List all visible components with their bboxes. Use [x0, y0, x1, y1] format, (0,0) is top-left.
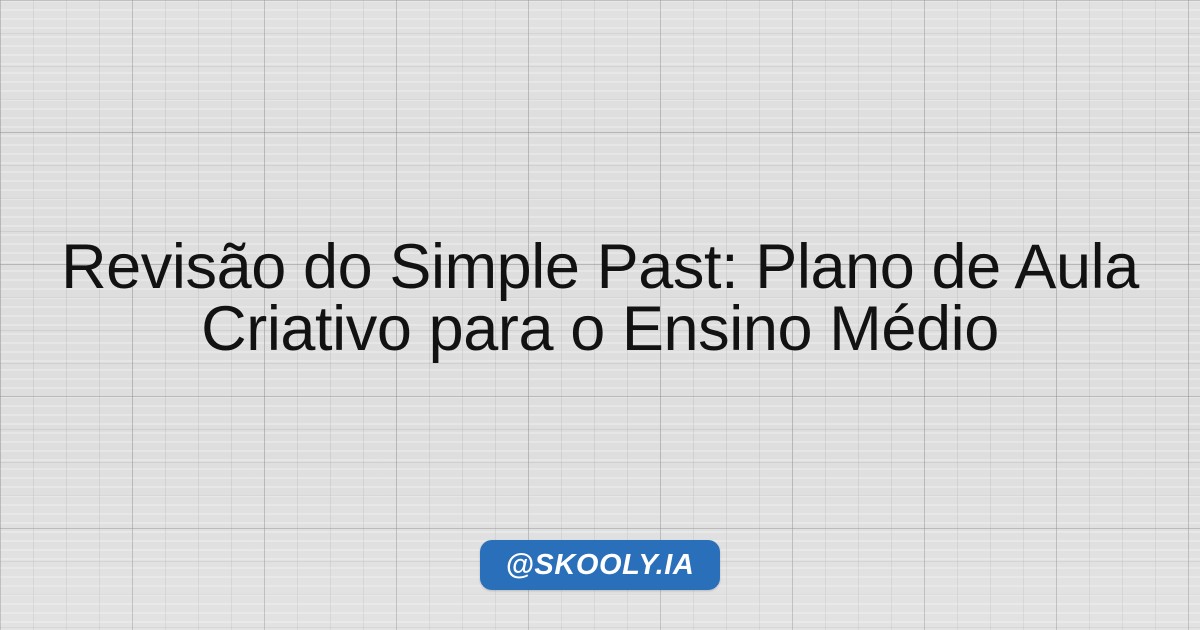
title-block: Revisão do Simple Past: Plano de Aula Cr…: [0, 236, 1200, 360]
page-title: Revisão do Simple Past: Plano de Aula Cr…: [12, 236, 1188, 360]
handle-badge[interactable]: @SKOOLY.IA: [480, 540, 721, 590]
badge-row: @SKOOLY.IA: [0, 540, 1200, 590]
handle-badge-label: @SKOOLY.IA: [506, 549, 695, 582]
cover-card: Revisão do Simple Past: Plano de Aula Cr…: [0, 0, 1200, 630]
